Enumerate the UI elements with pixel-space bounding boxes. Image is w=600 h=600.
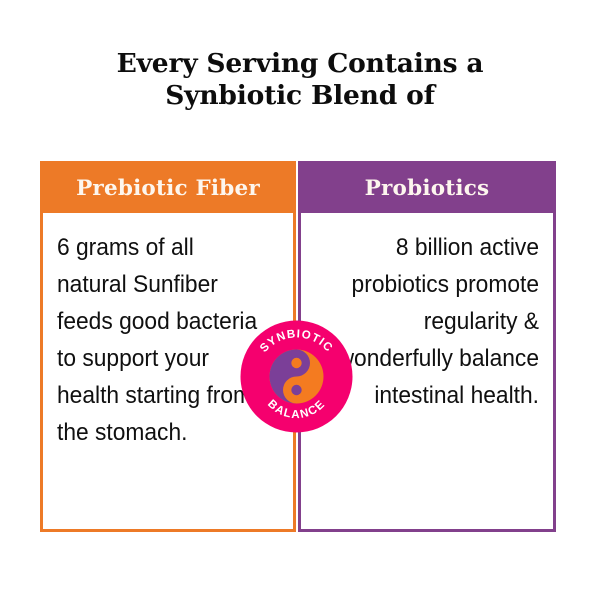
column-body-text: 6 grams of all natural Sunfiber feeds go… [57, 229, 263, 451]
column-header-probiotics: Probiotics [301, 164, 553, 213]
synbiotic-blend-infographic: Every Serving Contains a Synbiotic Blend… [0, 0, 600, 600]
page-title: Every Serving Contains a Synbiotic Blend… [0, 48, 600, 112]
yin-yang-icon [270, 350, 324, 404]
title-line-1: Every Serving Contains a [0, 48, 600, 80]
synbiotic-balance-badge: SYNBIOTIC BALANCE [240, 320, 353, 433]
column-header-label: Probiotics [365, 176, 490, 201]
column-header-prebiotic-fiber: Prebiotic Fiber [43, 164, 293, 213]
column-header-label: Prebiotic Fiber [76, 176, 260, 201]
title-line-2: Synbiotic Blend of [0, 80, 600, 112]
column-body-text: 8 billion active probiotics promote regu… [331, 229, 539, 414]
